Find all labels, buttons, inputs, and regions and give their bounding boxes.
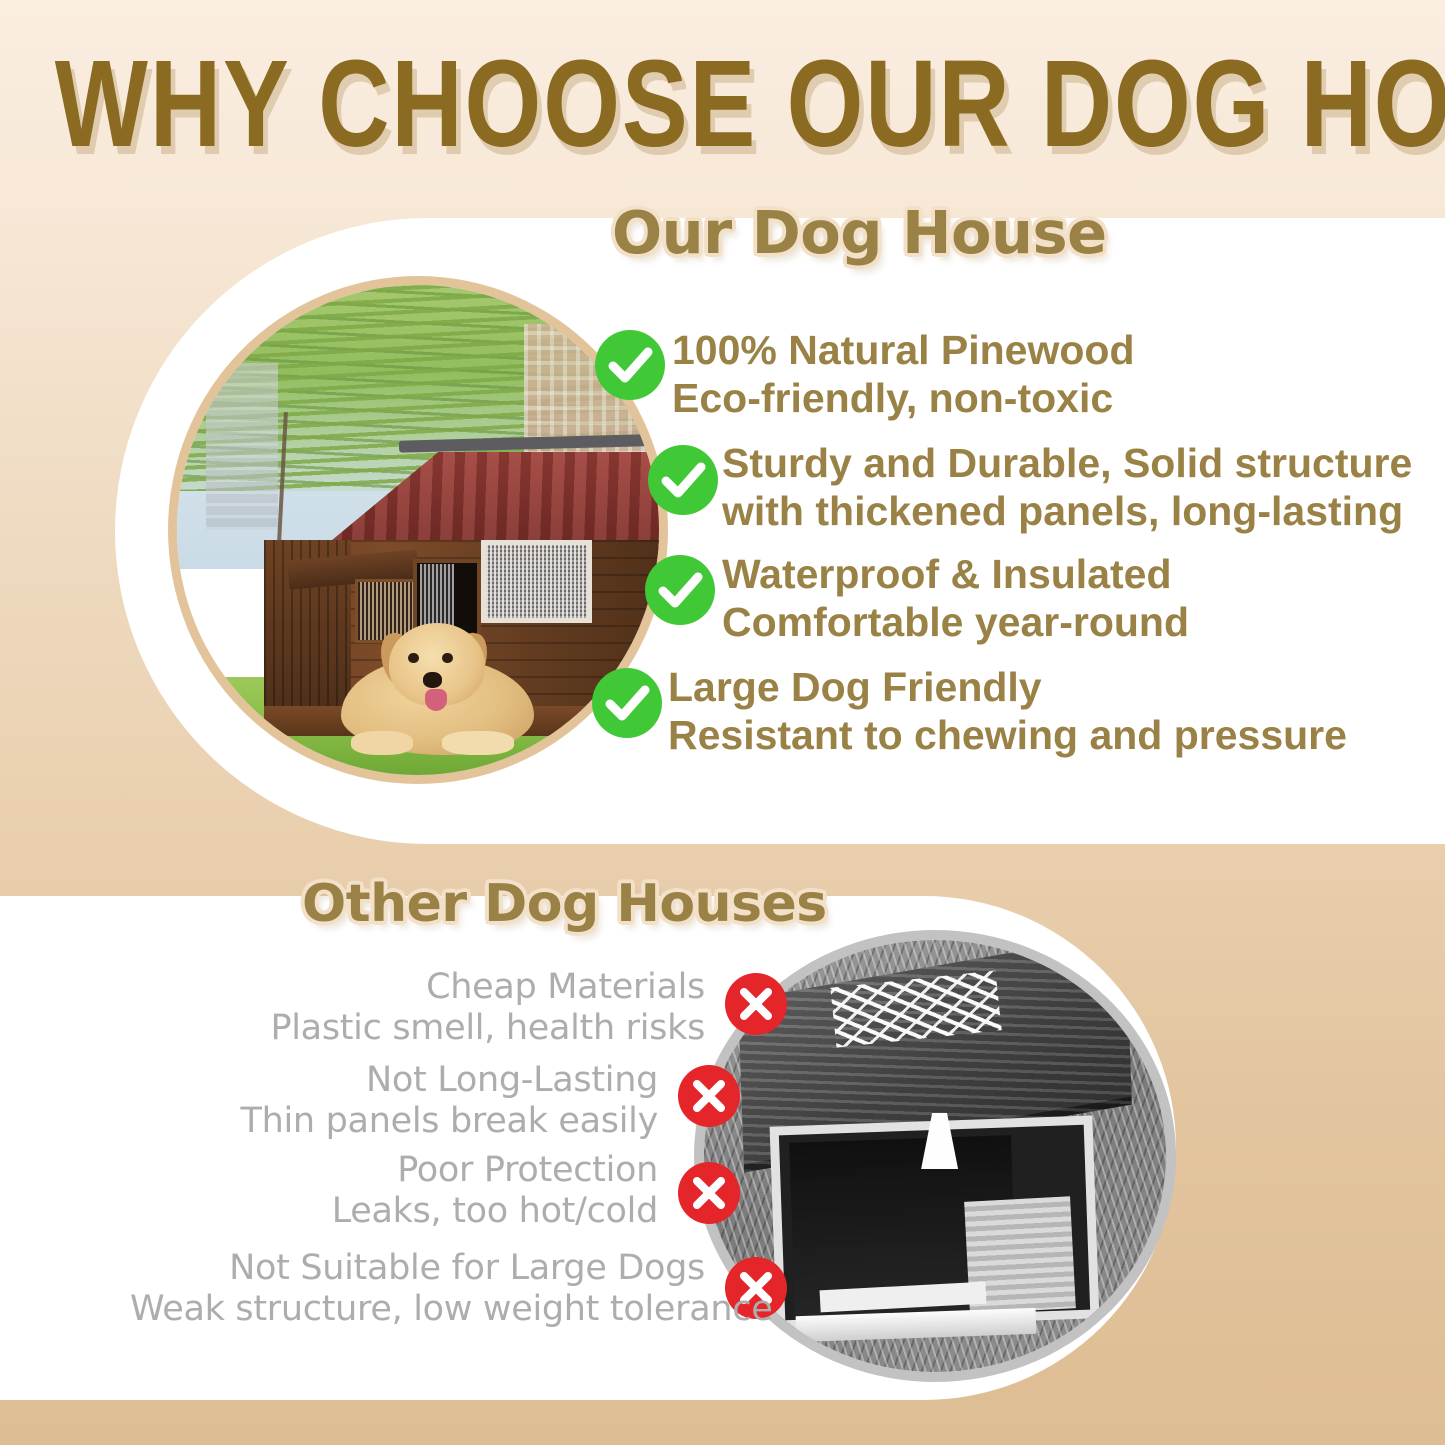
- check-icon: [592, 668, 662, 738]
- kennel-mesh-window: [481, 540, 592, 623]
- feature-item: Sturdy and Durable, Solid structure with…: [722, 440, 1412, 535]
- dog-paw-left: [351, 731, 414, 756]
- drawback-item: Cheap Materials Plastic smell, health ri…: [130, 967, 705, 1050]
- dog-nose: [423, 672, 442, 688]
- feature-title: Waterproof & Insulated: [722, 551, 1189, 599]
- drawback-desc: Weak structure, low weight tolerance: [130, 1289, 705, 1330]
- check-icon: [648, 445, 718, 515]
- cross-icon: [678, 1162, 740, 1224]
- our-dog-house-heading: Our Dog House: [612, 198, 1107, 267]
- check-icon: [645, 555, 715, 625]
- dog-eye-right: [442, 653, 453, 664]
- building-left: [206, 363, 278, 530]
- other-dog-houses-heading: Other Dog Houses: [302, 874, 827, 934]
- feature-title: Large Dog Friendly: [668, 664, 1347, 712]
- drawback-item: Not Suitable for Large Dogs Weak structu…: [130, 1248, 705, 1331]
- dog-paw-right: [442, 731, 514, 756]
- feature-desc: Resistant to chewing and pressure: [668, 712, 1347, 760]
- feature-item: Waterproof & Insulated Comfortable year-…: [722, 551, 1189, 646]
- feature-item: Large Dog Friendly Resistant to chewing …: [668, 664, 1347, 759]
- feature-title: 100% Natural Pinewood: [672, 327, 1135, 375]
- feature-desc: Eco-friendly, non-toxic: [672, 375, 1135, 423]
- page-title-container: WHY CHOOSE OUR DOG HOUSE?": [0, 42, 1445, 162]
- check-icon: [595, 330, 665, 400]
- feature-item: 100% Natural Pinewood Eco-friendly, non-…: [672, 327, 1135, 422]
- drawback-title: Not Long-Lasting: [130, 1060, 658, 1101]
- dog-eye-left: [408, 653, 419, 664]
- feature-desc: with thickened panels, long-lasting: [722, 488, 1412, 536]
- drawback-desc: Thin panels break easily: [130, 1101, 658, 1142]
- cross-icon: [678, 1065, 740, 1127]
- drawback-item: Poor Protection Leaks, too hot/cold: [130, 1150, 658, 1233]
- our-photo-content: [177, 285, 659, 775]
- drawback-item: Not Long-Lasting Thin panels break easil…: [130, 1060, 658, 1143]
- drawback-title: Poor Protection: [130, 1150, 658, 1191]
- page-title: WHY CHOOSE OUR DOG HOUSE?": [55, 42, 1445, 166]
- feature-desc: Comfortable year-round: [722, 599, 1189, 647]
- drawback-desc: Plastic smell, health risks: [130, 1008, 705, 1049]
- infographic-root: WHY CHOOSE OUR DOG HOUSE?" Our Dog House: [0, 0, 1445, 1445]
- feature-title: Sturdy and Durable, Solid structure: [722, 440, 1412, 488]
- drawback-title: Cheap Materials: [130, 967, 705, 1008]
- drawback-desc: Leaks, too hot/cold: [130, 1191, 658, 1232]
- cross-icon: [725, 973, 787, 1035]
- drawback-title: Not Suitable for Large Dogs: [130, 1248, 705, 1289]
